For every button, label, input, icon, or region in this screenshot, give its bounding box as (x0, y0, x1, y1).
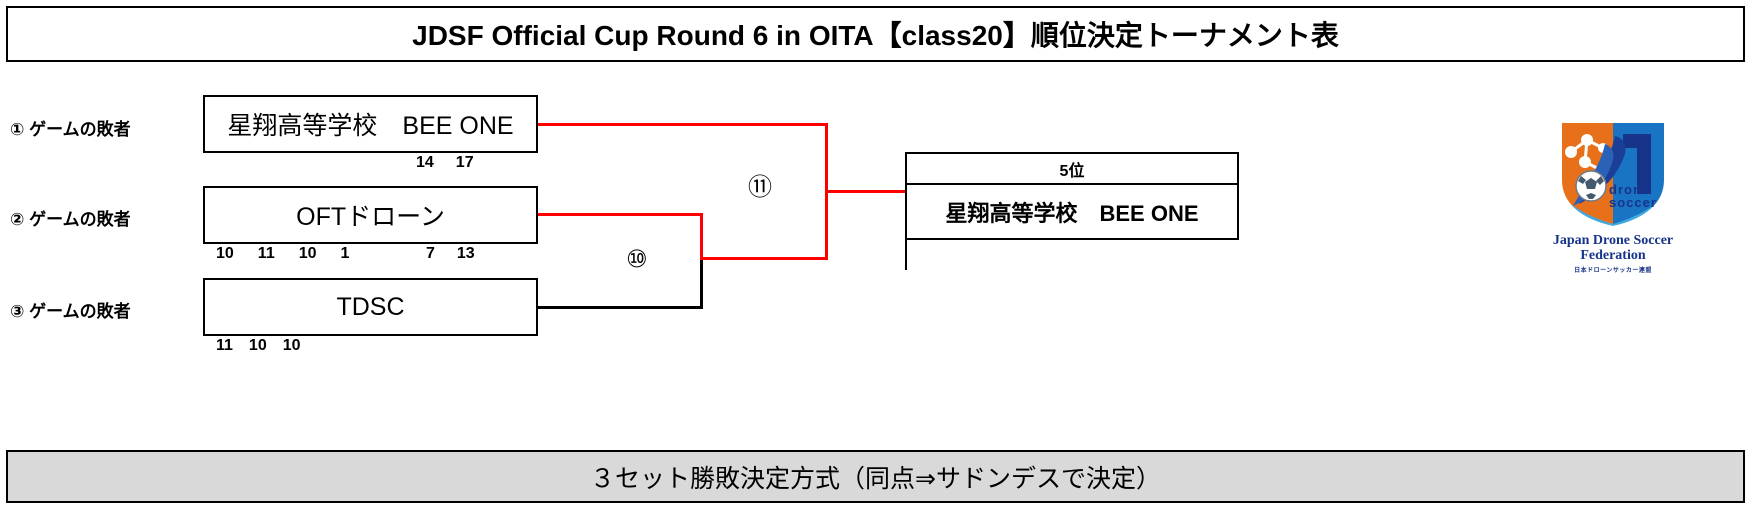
tournament-bracket-page: JDSF Official Cup Round 6 in OITA【class2… (0, 0, 1753, 532)
score-cell: 11 (258, 245, 275, 263)
round-label-1: ① ゲームの敗者 (10, 115, 131, 140)
connector-match10-vertical-red (700, 213, 703, 260)
logo-federation-name: Japan Drone Soccer Federation (1553, 233, 1673, 263)
connector-team1-horizontal (538, 123, 828, 126)
logo-federation-name-jp: 日本ドローンサッカー連盟 (1574, 265, 1652, 274)
footer-rule-bar: ３セット勝敗決定方式（同点⇒サドンデスで決定） (6, 450, 1745, 503)
match-number-11: ⑪ (748, 176, 772, 200)
score-row-2-left: 10 11 10 1 (216, 245, 349, 263)
team-box-3[interactable]: TDSC (203, 278, 538, 336)
match-number-10: ⑩ (626, 248, 648, 272)
score-cell: 10 (249, 337, 267, 355)
score-cell: 10 (299, 245, 317, 263)
connector-match10-vertical-black (700, 258, 703, 309)
logo-name-line2: Federation (1553, 248, 1673, 263)
page-title-banner: JDSF Official Cup Round 6 in OITA【class2… (6, 6, 1745, 62)
team-box-2[interactable]: OFTドローン (203, 186, 538, 244)
winner-box[interactable]: 5位 星翔高等学校 BEE ONE (905, 152, 1239, 240)
score-row-1-right: 14 17 (416, 154, 474, 172)
drone-soccer-shield-icon: drone soccer (1553, 118, 1673, 230)
score-row-2-right: 7 13 (426, 245, 475, 263)
connector-team2-horizontal (538, 213, 703, 216)
footer-rule-text: ３セット勝敗決定方式（同点⇒サドンデスで決定） (590, 459, 1161, 495)
page-title: JDSF Official Cup Round 6 in OITA【class2… (412, 14, 1339, 54)
connector-team3-horizontal (538, 306, 703, 309)
connector-match10-output (700, 257, 828, 260)
team-name-2: OFTドローン (296, 197, 445, 233)
connector-match11-output (825, 190, 907, 193)
score-cell: 14 (416, 154, 434, 172)
winner-rank-label: 5位 (907, 154, 1237, 185)
score-cell: 11 (216, 337, 233, 355)
logo-wordmark-soccer: soccer (1609, 195, 1657, 210)
score-cell: 10 (216, 245, 234, 263)
score-cell: 7 (426, 245, 435, 263)
team-name-3: TDSC (336, 293, 404, 322)
score-row-3-left: 11 10 10 (216, 337, 301, 355)
round-label-2: ② ゲームの敗者 (10, 205, 131, 230)
winner-team-name: 星翔高等学校 BEE ONE (907, 185, 1237, 238)
logo-name-line1: Japan Drone Soccer (1553, 233, 1673, 248)
score-cell: 10 (283, 337, 301, 355)
score-cell: 13 (457, 245, 475, 263)
score-cell: 17 (456, 154, 474, 172)
score-cell: 1 (341, 245, 350, 263)
jdsf-logo-block: drone soccer Japan Drone Soccer Federati… (1518, 118, 1708, 293)
team-box-1[interactable]: 星翔高等学校 BEE ONE (203, 95, 538, 153)
round-label-3: ③ ゲームの敗者 (10, 297, 131, 322)
team-name-1: 星翔高等学校 BEE ONE (227, 106, 513, 142)
